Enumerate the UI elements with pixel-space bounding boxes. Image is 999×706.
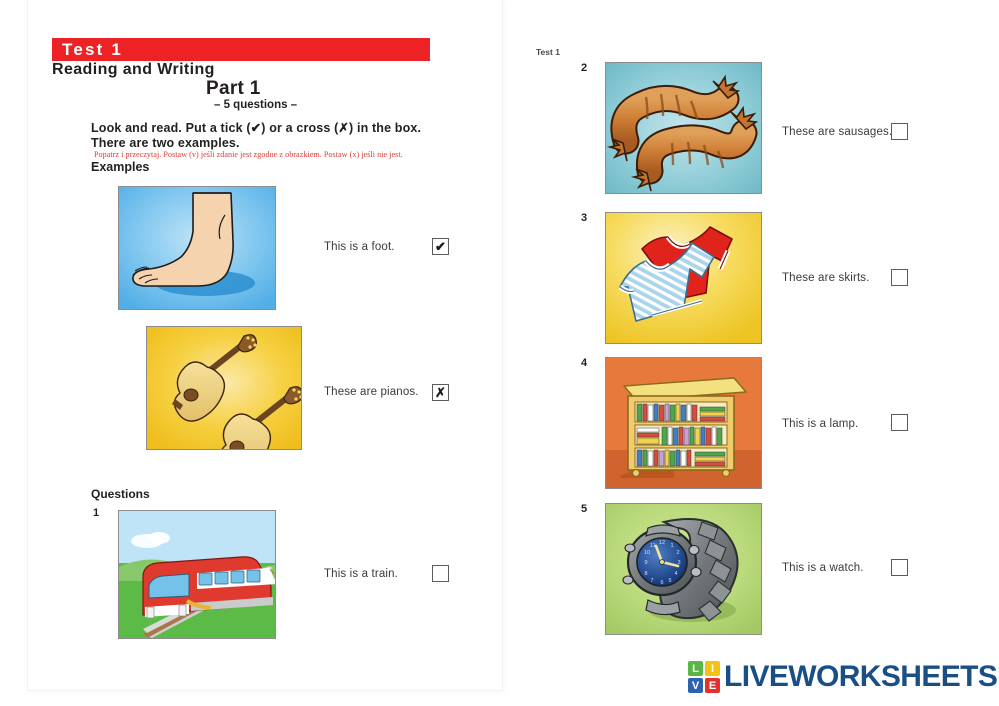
- svg-text:5: 5: [668, 578, 671, 584]
- sausages-illustration: [606, 63, 761, 193]
- question-3-answer-box[interactable]: [891, 269, 908, 286]
- question-5-picture-watch: 123 69 12 45 78 1011: [605, 503, 762, 635]
- question-5-number: 5: [581, 503, 587, 515]
- instruction-polish: Popatrz i przeczytaj. Postaw (v) jeśli z…: [94, 150, 403, 159]
- question-4-picture-bookcase: [605, 357, 762, 489]
- part-subtitle: – 5 questions –: [214, 99, 297, 111]
- right-page-marker: Test 1: [536, 47, 560, 57]
- liveworksheets-logo: L I V E LIVEWORKSHEETS: [688, 660, 997, 694]
- logo-cell-i: I: [705, 661, 720, 676]
- question-2-picture-sausages: [605, 62, 762, 194]
- part-title: Part 1: [206, 78, 261, 100]
- example-1-answer-box[interactable]: ✔: [432, 238, 449, 255]
- guitars-illustration: [147, 327, 301, 449]
- svg-text:2: 2: [676, 550, 679, 556]
- watch-illustration: 123 69 12 45 78 1011: [606, 504, 761, 634]
- test-banner: Test 1: [52, 38, 430, 61]
- question-3-picture-tshirts: [605, 212, 762, 344]
- question-1-statement: This is a train.: [324, 568, 398, 580]
- examples-label: Examples: [91, 160, 149, 174]
- question-1-picture-train: [118, 510, 276, 639]
- question-4-number: 4: [581, 357, 587, 369]
- example-2-answer-box[interactable]: ✗: [432, 384, 449, 401]
- svg-text:8: 8: [644, 571, 647, 577]
- logo-cell-l: L: [688, 661, 703, 676]
- question-4-answer-box[interactable]: [891, 414, 908, 431]
- logo-cell-e: E: [705, 678, 720, 693]
- bookcase-illustration: [606, 358, 761, 488]
- liveworksheets-logo-mark: L I V E: [688, 661, 720, 693]
- test-banner-label: Test 1: [62, 40, 123, 60]
- svg-text:10: 10: [644, 550, 650, 556]
- instruction-line-1: Look and read. Put a tick (✔) or a cross…: [91, 120, 421, 135]
- left-page-panel: Test 1 Reading and Writing Part 1 – 5 qu…: [28, 0, 502, 690]
- subject-title: Reading and Writing: [52, 61, 215, 79]
- foot-illustration: [119, 187, 275, 309]
- svg-text:9: 9: [644, 560, 647, 566]
- instruction-line-2: There are two examples.: [91, 136, 240, 150]
- example-2-statement: These are pianos.: [324, 386, 419, 398]
- worksheet-root: Test 1 Reading and Writing Part 1 – 5 qu…: [0, 0, 999, 706]
- question-4-statement: This is a lamp.: [782, 418, 858, 430]
- question-2-number: 2: [581, 62, 587, 74]
- question-5-answer-box[interactable]: [891, 559, 908, 576]
- svg-text:7: 7: [650, 578, 653, 584]
- liveworksheets-wordmark: LIVEWORKSHEETS: [724, 660, 997, 694]
- question-3-number: 3: [581, 212, 587, 224]
- question-5-statement: This is a watch.: [782, 562, 864, 574]
- svg-text:4: 4: [674, 571, 677, 577]
- question-3-statement: These are skirts.: [782, 272, 870, 284]
- tshirts-illustration: [606, 213, 761, 343]
- svg-text:6: 6: [660, 580, 663, 586]
- example-1-picture-foot: [118, 186, 276, 310]
- question-2-statement: These are sausages.: [782, 126, 892, 138]
- question-1-number: 1: [93, 507, 99, 519]
- question-2-answer-box[interactable]: [891, 123, 908, 140]
- logo-cell-v: V: [688, 678, 703, 693]
- questions-label: Questions: [91, 487, 150, 501]
- svg-text:12: 12: [659, 540, 665, 546]
- example-1-statement: This is a foot.: [324, 241, 395, 253]
- question-1-answer-box[interactable]: [432, 565, 449, 582]
- example-2-picture-guitars: [146, 326, 302, 450]
- svg-text:1: 1: [670, 543, 673, 549]
- train-illustration: [119, 511, 275, 638]
